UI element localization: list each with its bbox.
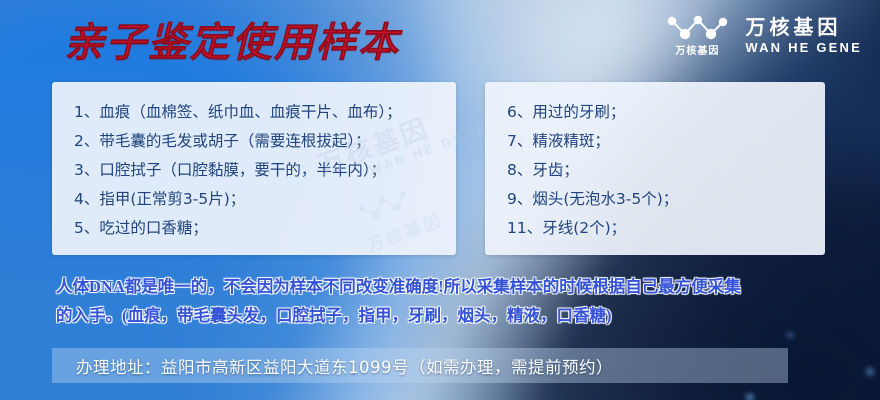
sample-list-left: 1、血痕（血棉签、纸巾血、血痕干片、血布）； 2、带毛囊的毛发或胡子（需要连根拔…: [52, 82, 456, 243]
list-item: 8、牙齿；: [507, 156, 825, 185]
list-item: 1、血痕（血棉签、纸巾血、血痕干片、血布）；: [74, 98, 456, 127]
dna-molecule-icon: [665, 14, 729, 44]
list-item: 11、牙线(2个)；: [507, 214, 825, 243]
brand-mark: 万核基因: [665, 14, 729, 57]
poster-root: 亲子鉴定使用样本 万核基因: [0, 0, 880, 400]
address-text: 办理地址：益阳市高新区益阳大道东1099号（如需办理，需提前预约）: [52, 354, 613, 378]
list-item: 9、烟头(无泡水3-5个)；: [507, 185, 825, 214]
sample-list-right-panel: 6、用过的牙刷； 7、精液精斑； 8、牙齿； 9、烟头(无泡水3-5个)； 11…: [485, 82, 825, 255]
brand-name-en: WAN HE GENE: [745, 41, 862, 55]
note-line-1: 人体DNA都是唯一的，不会因为样本不同改变准确度!所以采集样本的时候根据自己最方…: [56, 272, 846, 301]
list-item: 7、精液精斑；: [507, 127, 825, 156]
list-item: 5、吃过的口香糖；: [74, 214, 456, 243]
page-title: 亲子鉴定使用样本: [64, 18, 400, 68]
sample-list-right: 6、用过的牙刷； 7、精液精斑； 8、牙齿； 9、烟头(无泡水3-5个)； 11…: [485, 82, 825, 243]
note-paragraph: 人体DNA都是唯一的，不会因为样本不同改变准确度!所以采集样本的时候根据自己最方…: [56, 272, 846, 330]
list-item: 2、带毛囊的毛发或胡子（需要连根拔起）；: [74, 127, 456, 156]
list-item: 3、口腔拭子（口腔黏膜，要干的，半年内）；: [74, 156, 456, 185]
list-item: 6、用过的牙刷；: [507, 98, 825, 127]
sample-list-left-panel: 1、血痕（血棉签、纸巾血、血痕干片、血布）； 2、带毛囊的毛发或胡子（需要连根拔…: [52, 82, 456, 255]
note-line-2: 的入手。(血痕，带毛囊头发，口腔拭子，指甲，牙刷，烟头，精液，口香糖): [56, 301, 846, 330]
address-bar: 办理地址：益阳市高新区益阳大道东1099号（如需办理，需提前预约）: [52, 348, 788, 383]
brand-mark-label: 万核基因: [675, 47, 719, 57]
list-item: 4、指甲(正常剪3-5片)；: [74, 185, 456, 214]
brand-name-cn: 万核基因: [745, 17, 862, 39]
brand-logo: 万核基因 万核基因 WAN HE GENE: [665, 14, 862, 57]
brand-text: 万核基因 WAN HE GENE: [745, 17, 862, 55]
